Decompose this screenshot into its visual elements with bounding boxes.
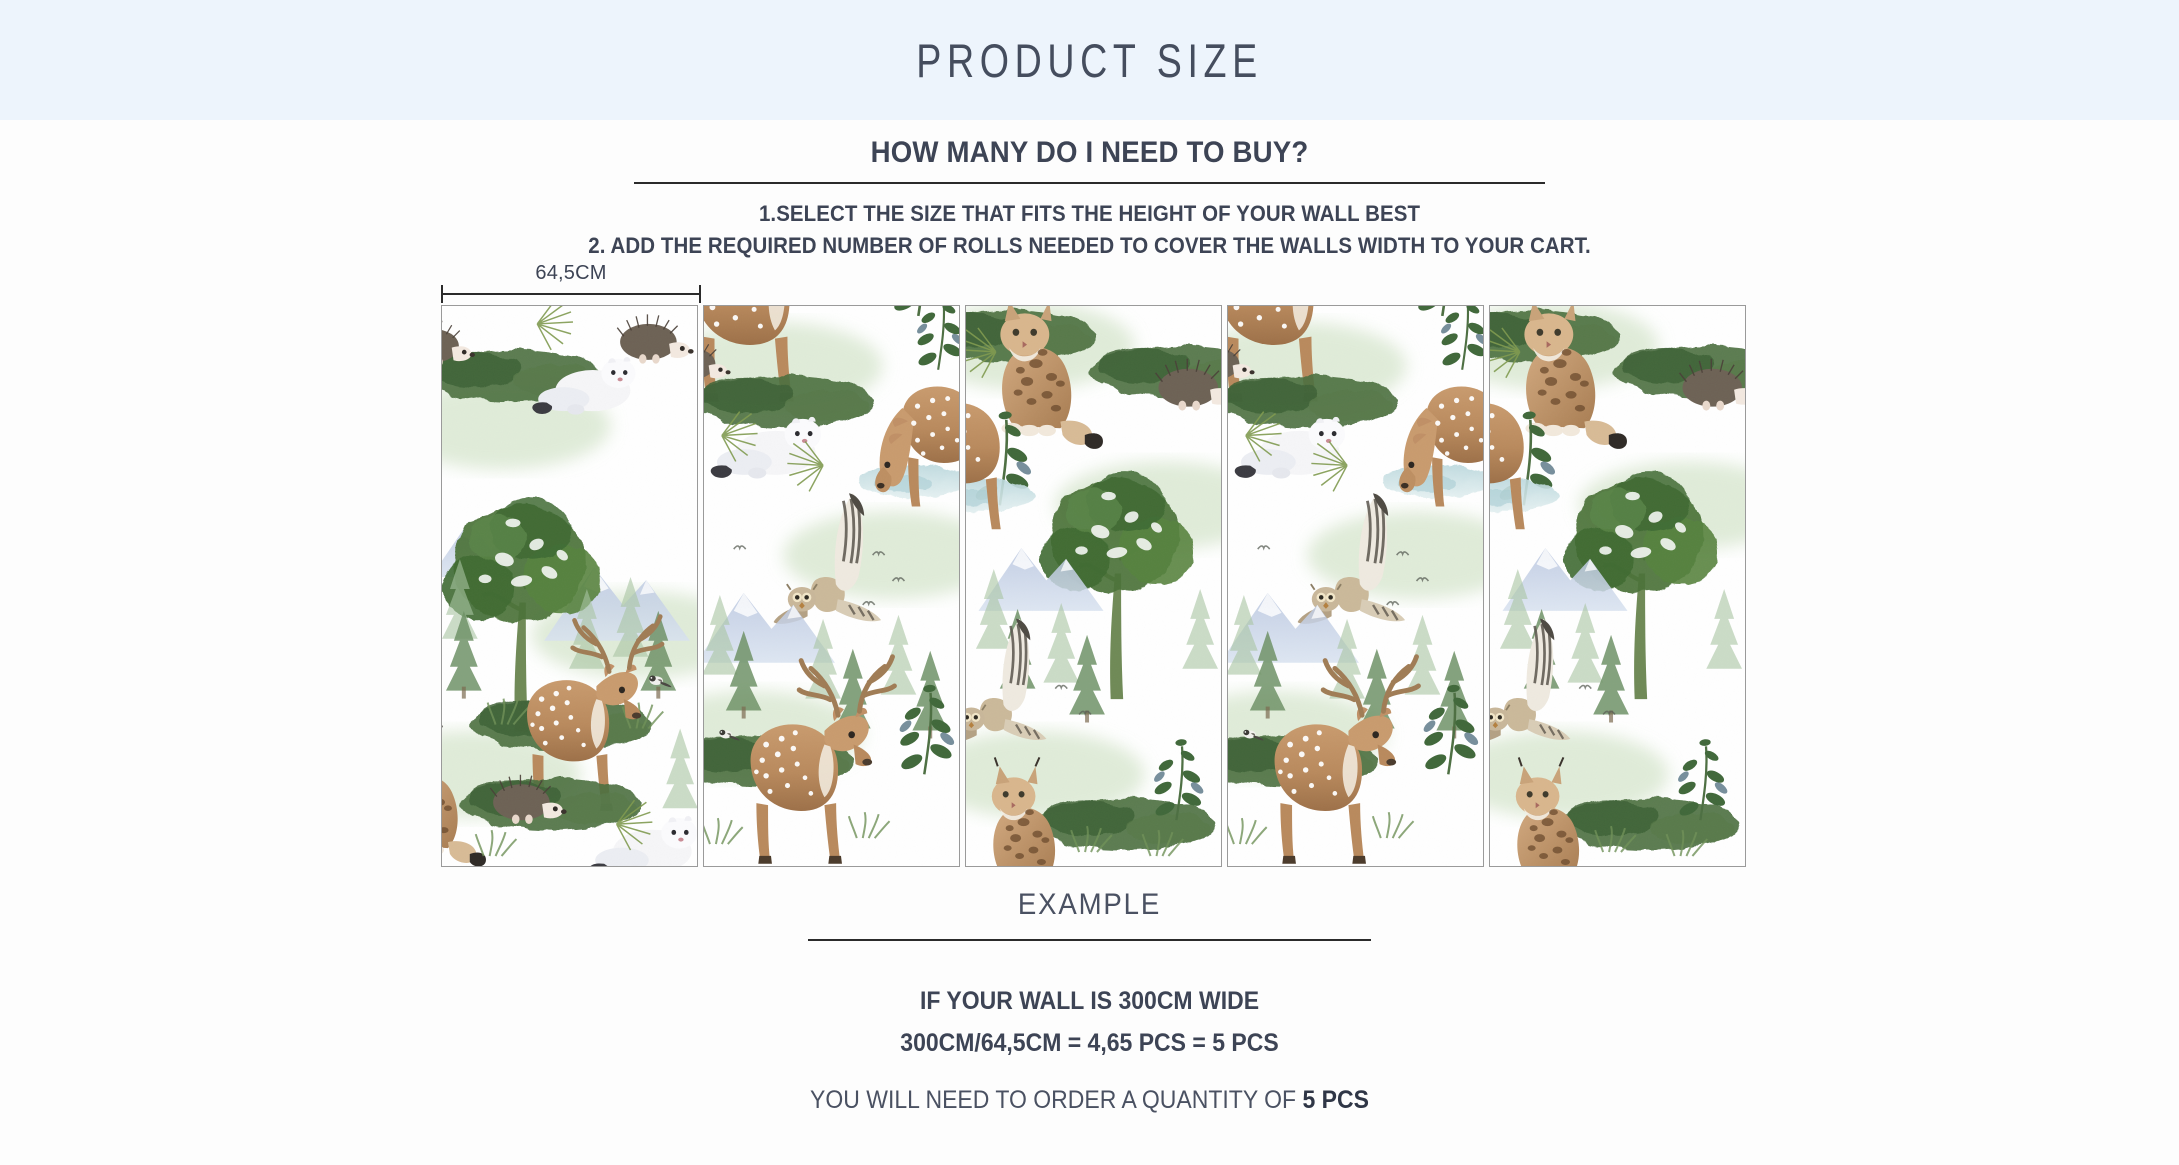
page-title: PRODUCT SIZE bbox=[916, 33, 1262, 88]
panel-artwork-2 bbox=[704, 306, 959, 866]
example-line-2: 300CM/64,5CM = 4,65 PCS = 5 PCS bbox=[87, 1022, 2092, 1064]
example-line-1: IF YOUR WALL IS 300CM WIDE bbox=[87, 980, 2092, 1022]
panel-artwork-5 bbox=[1490, 306, 1745, 866]
panel-artwork-3 bbox=[966, 306, 1221, 866]
wallpaper-panel-1[interactable] bbox=[441, 305, 698, 867]
instruction-step-2: 2. ADD THE REQUIRED NUMBER OF ROLLS NEED… bbox=[76, 230, 2102, 262]
example-title: EXAMPLE bbox=[87, 888, 2092, 922]
width-dimension: 64,5CM bbox=[441, 262, 701, 308]
instructions-heading: HOW MANY DO I NEED TO BUY? bbox=[87, 136, 2092, 170]
panel-artwork-4 bbox=[1228, 306, 1483, 866]
example-divider bbox=[808, 939, 1371, 941]
wallpaper-panel-5[interactable] bbox=[1489, 305, 1746, 867]
wallpaper-panel-3[interactable] bbox=[965, 305, 1222, 867]
panel-artwork-1 bbox=[442, 306, 697, 866]
dimension-tick-left bbox=[441, 285, 443, 303]
width-dimension-label: 64,5CM bbox=[441, 262, 701, 284]
heading-divider bbox=[634, 182, 1545, 184]
example-final-prefix: YOU WILL NEED TO ORDER A QUANTITY OF bbox=[810, 1086, 1302, 1114]
example-final-line: YOU WILL NEED TO ORDER A QUANTITY OF 5 P… bbox=[87, 1086, 2092, 1115]
dimension-tick-right bbox=[699, 285, 701, 303]
wallpaper-panel-2[interactable] bbox=[703, 305, 960, 867]
example-final-highlight: 5 PCS bbox=[1302, 1086, 1368, 1114]
instruction-steps: 1.SELECT THE SIZE THAT FITS THE HEIGHT O… bbox=[0, 198, 2179, 262]
dimension-line bbox=[441, 293, 701, 295]
wallpaper-panel-row bbox=[441, 305, 1746, 867]
header-band: PRODUCT SIZE bbox=[0, 0, 2179, 120]
example-body: IF YOUR WALL IS 300CM WIDE 300CM/64,5CM … bbox=[0, 980, 2179, 1115]
instruction-step-1: 1.SELECT THE SIZE THAT FITS THE HEIGHT O… bbox=[76, 198, 2102, 230]
wallpaper-panel-4[interactable] bbox=[1227, 305, 1484, 867]
